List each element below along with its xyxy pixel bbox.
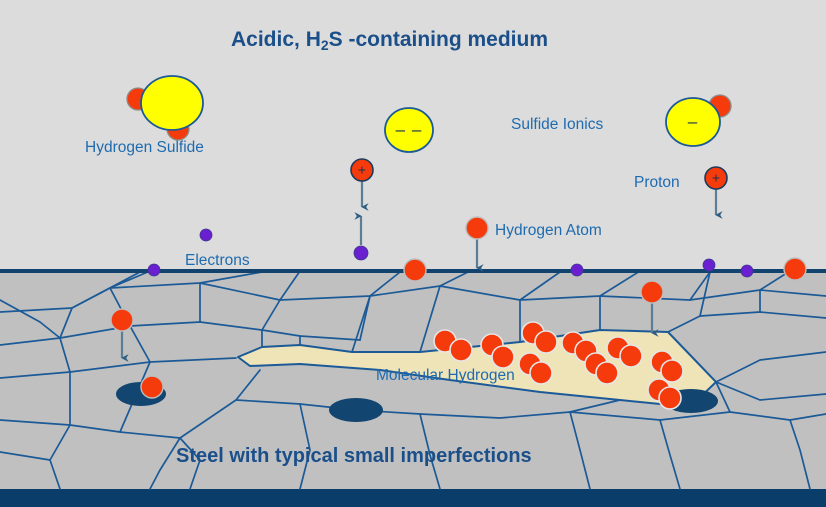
electron <box>148 264 160 276</box>
page-title: Acidic, H2S -containing medium <box>231 28 548 52</box>
molecular-hydrogen-atom <box>450 339 472 361</box>
hydrogen-atom-in-steel <box>111 309 133 331</box>
molecular-hydrogen-atom <box>492 346 514 368</box>
electron <box>200 229 212 241</box>
hydrogen-atom <box>466 217 488 239</box>
hydrogen-atom-in-steel <box>141 376 163 398</box>
proton-charge-label: + <box>358 162 366 178</box>
hydrogen-atom-surface <box>404 259 426 281</box>
electron <box>703 259 715 271</box>
hydrogen-atom-in-steel <box>641 281 663 303</box>
hydrogen-atom-surface <box>784 258 806 280</box>
electron <box>741 265 753 277</box>
scene-svg: ++ –– – <box>0 0 826 507</box>
h2s-sulfur-atom <box>141 76 203 130</box>
molecular-hydrogen-atom <box>661 360 683 382</box>
diagram-canvas: ++ –– – Acidic, H2S -containing medium H… <box>0 0 826 507</box>
label-sulfide_ionics: Sulfide Ionics <box>511 116 603 134</box>
label-hydrogen_sulfide: Hydrogen Sulfide <box>85 139 204 157</box>
title-suffix: S -containing medium <box>329 28 548 51</box>
hydrosulfide-ion-charge-label: – <box>688 112 698 131</box>
bottom-bar <box>0 489 826 507</box>
steel-caption: Steel with typical small imperfections <box>176 445 532 468</box>
label-molecular_hydrogen: Molecular Hydrogen <box>376 367 515 385</box>
label-electrons: Electrons <box>185 252 250 270</box>
inclusion-void <box>329 398 383 422</box>
sulfide-ion-charge-label: – – <box>396 120 423 139</box>
molecular-hydrogen-atom <box>530 362 552 384</box>
molecular-hydrogen-atom <box>596 362 618 384</box>
electron <box>354 246 368 260</box>
label-proton: Proton <box>634 174 680 192</box>
label-hydrogen_atom: Hydrogen Atom <box>495 222 602 240</box>
molecular-hydrogen-atom <box>659 387 681 409</box>
title-prefix: Acidic, H <box>231 28 321 51</box>
molecular-hydrogen-atom <box>535 331 557 353</box>
electron <box>571 264 583 276</box>
proton-charge-label: + <box>712 170 720 186</box>
molecular-hydrogen-atom <box>620 345 642 367</box>
title-subscript: 2 <box>321 37 329 53</box>
